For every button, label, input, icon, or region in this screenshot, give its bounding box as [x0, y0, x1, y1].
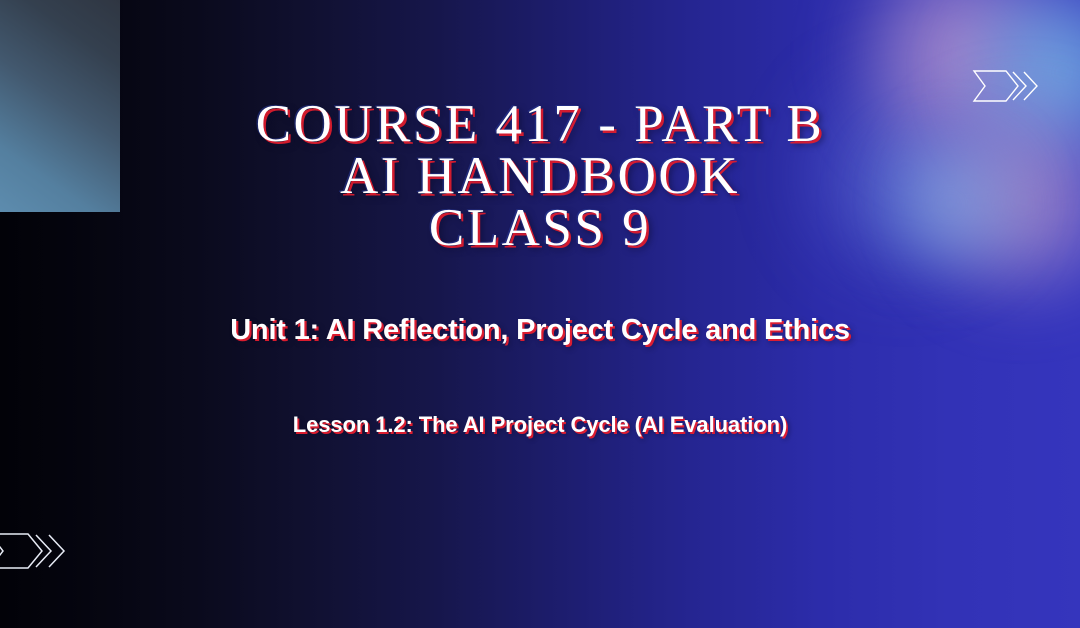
slide-title: COURSE 417 - PART B AI HANDBOOK CLASS 9: [0, 98, 1080, 254]
presentation-slide: COURSE 417 - PART B AI HANDBOOK CLASS 9 …: [0, 0, 1080, 628]
title-line-2: AI HANDBOOK: [0, 150, 1080, 202]
unit-heading: Unit 1: AI Reflection, Project Cycle and…: [0, 314, 1080, 347]
slide-content: COURSE 417 - PART B AI HANDBOOK CLASS 9 …: [0, 0, 1080, 628]
lesson-heading: Lesson 1.2: The AI Project Cycle (AI Eva…: [0, 412, 1080, 438]
title-line-1: COURSE 417 - PART B: [0, 98, 1080, 150]
title-line-3: CLASS 9: [0, 202, 1080, 254]
